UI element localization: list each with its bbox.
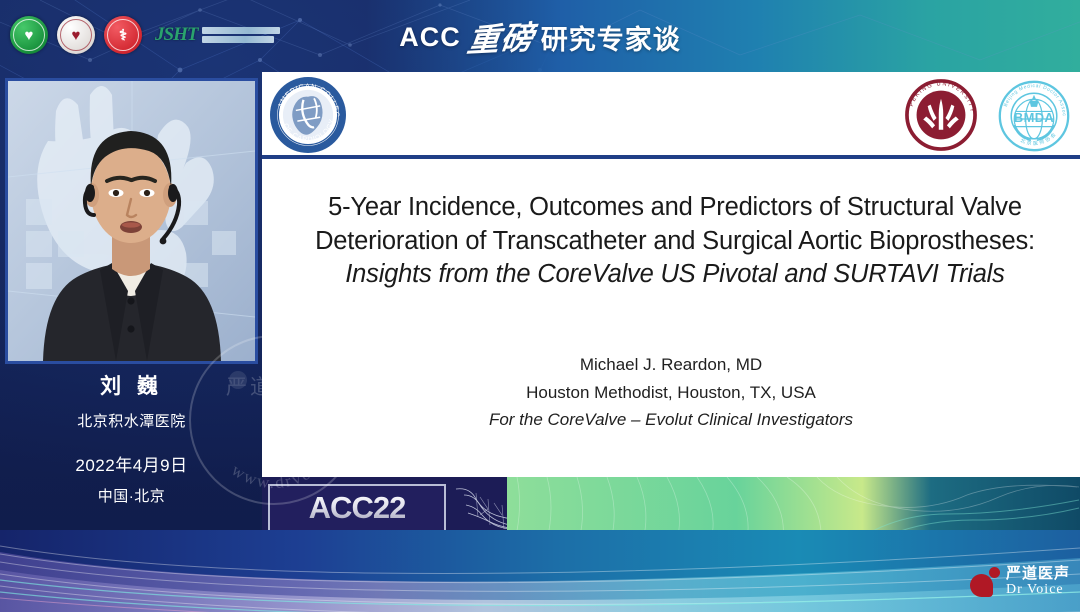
- banner-acc-label: ACC: [399, 22, 461, 53]
- drvoice-cn-label: 严道医声: [1006, 566, 1070, 582]
- drvoice-text: 严道医声 Dr Voice: [1006, 566, 1070, 598]
- speaker-video-panel[interactable]: [5, 78, 258, 364]
- banner-suffix-label: 研究专家谈: [541, 18, 681, 57]
- slide-title: 5-Year Incidence, Outcomes and Predictor…: [292, 191, 1058, 292]
- slide-subtitle: Insights from the CoreValve US Pivotal a…: [292, 258, 1058, 292]
- bottom-light-ribbon: [0, 530, 1080, 612]
- slide-title-line-1: 5-Year Incidence, Outcomes and Predictor…: [292, 191, 1058, 225]
- presentation-slide[interactable]: AMERICAN COLLEGE OF CARDIOLOGY: [262, 72, 1080, 540]
- slide-logo-bar: AMERICAN COLLEGE OF CARDIOLOGY: [262, 72, 1080, 159]
- slide-author-block: Michael J. Reardon, MD Houston Methodist…: [262, 351, 1080, 434]
- slide-body: 5-Year Incidence, Outcomes and Predictor…: [262, 159, 1080, 477]
- drvoice-en-label: Dr Voice: [1006, 583, 1070, 598]
- drvoice-watermark: www.drvoice.cn 严道医声: [186, 332, 362, 508]
- screen: ♥ ♥ ⚕ JSHT ACC 重磅 研究专家谈: [0, 0, 1080, 612]
- bmda-seal-icon: BMDA Beijing Medical Doctor Association …: [996, 78, 1072, 154]
- drvoice-mark-icon: [970, 567, 1000, 597]
- banner-brush-label: 重磅: [465, 12, 537, 61]
- slide-title-line-2: Deterioration of Transcatheter and Surgi…: [292, 225, 1058, 259]
- banner-title: ACC 重磅 研究专家谈: [0, 14, 1080, 60]
- acc-seal-icon: AMERICAN COLLEGE OF CARDIOLOGY: [270, 77, 346, 153]
- author-affiliation: Houston Methodist, Houston, TX, USA: [262, 379, 1080, 407]
- drvoice-logo: 严道医声 Dr Voice: [970, 566, 1070, 598]
- svg-text:BMDA: BMDA: [1014, 110, 1054, 125]
- top-banner: ♥ ♥ ⚕ JSHT ACC 重磅 研究专家谈: [0, 0, 1080, 72]
- author-name: Michael J. Reardon, MD: [262, 351, 1080, 379]
- author-group: For the CoreValve – Evolut Clinical Inve…: [262, 406, 1080, 434]
- svg-text:www.drvoice.cn: www.drvoice.cn: [228, 428, 345, 492]
- speaker-portrait: [8, 81, 255, 361]
- peking-university-seal-icon: PEKING UNIVERSITY 1898: [904, 78, 978, 152]
